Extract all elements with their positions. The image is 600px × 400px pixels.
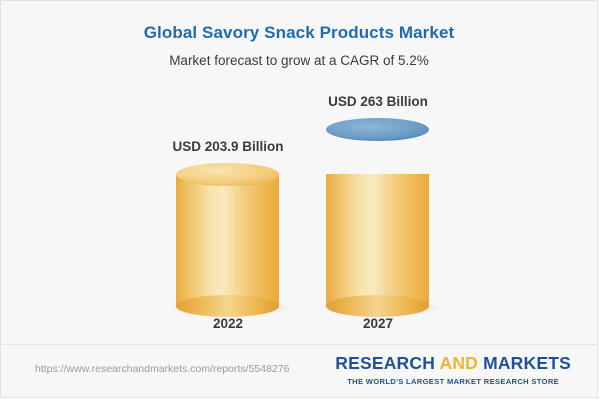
chart-plot-area: USD 203.9 Billion 2022 USD 263 Billion 2 xyxy=(1,1,597,346)
cylinder-top-cap xyxy=(326,118,429,141)
cylinder-bottom-cap xyxy=(326,295,429,317)
logo-word-markets: MARKETS xyxy=(483,353,571,373)
source-url-link[interactable]: https://www.researchandmarkets.com/repor… xyxy=(35,363,289,375)
footer: https://www.researchandmarkets.com/repor… xyxy=(1,344,597,397)
chart-card: Global Savory Snack Products Market Mark… xyxy=(0,0,598,398)
research-and-markets-logo: RESEARCH AND MARKETS THE WORLD'S LARGEST… xyxy=(335,355,571,386)
data-label-2027: USD 263 Billion xyxy=(268,94,488,109)
cylinder-bottom-cap xyxy=(176,295,279,317)
logo-wordmark: RESEARCH AND MARKETS xyxy=(335,355,571,373)
cylinder-body xyxy=(176,174,279,306)
data-label-2022: USD 203.9 Billion xyxy=(118,139,338,154)
cylinder-body xyxy=(326,174,429,306)
logo-word-and: AND xyxy=(435,353,483,373)
cylinder-top-cap xyxy=(176,163,279,186)
logo-tagline: THE WORLD'S LARGEST MARKET RESEARCH STOR… xyxy=(335,377,571,386)
x-axis-label-2027: 2027 xyxy=(268,316,488,331)
logo-word-research: RESEARCH xyxy=(335,353,435,373)
